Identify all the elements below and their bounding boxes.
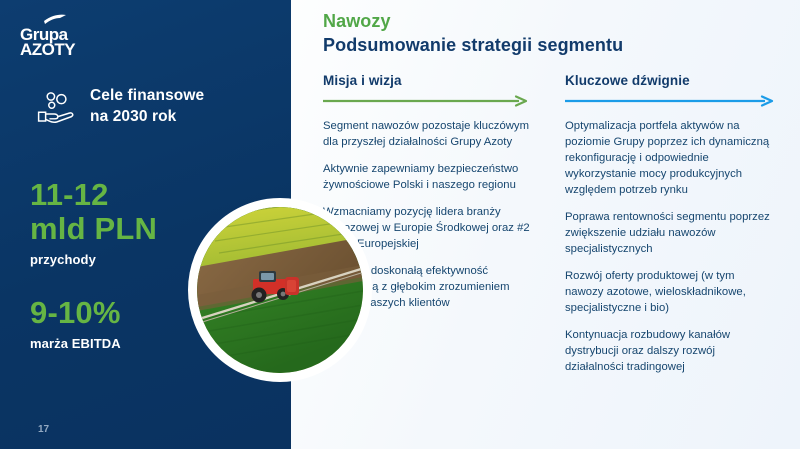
stat-revenue-unit: mld PLN (30, 212, 157, 246)
stat-ebitda-value: 9-10% (30, 296, 121, 330)
stat-ebitda-label: marża EBITDA (30, 336, 121, 351)
stat-revenue-value: 11-12 (30, 178, 157, 212)
stat-revenue-label: przychody (30, 252, 157, 267)
content-columns: Misja i wizja Segment nawozów pozostaje … (323, 73, 778, 375)
financial-goals-header: Cele finansowe na 2030 rok (36, 86, 204, 128)
column-1-heading: Misja i wizja (323, 73, 533, 88)
logo-text-line2: AZOTY (20, 40, 76, 58)
title-main: Podsumowanie strategii segmentu (323, 34, 623, 57)
goal-text-block: Cele finansowe na 2030 rok (90, 86, 204, 127)
right-content-panel: Nawozy Podsumowanie strategii segmentu M… (291, 0, 800, 449)
page-number: 17 (38, 424, 49, 435)
green-arrow (323, 95, 533, 109)
bullet-item: Aktywnie zapewniamy bezpieczeństwo żywno… (323, 161, 533, 193)
goal-line-1: Cele finansowe (90, 86, 204, 107)
bullet-item: Poprawa rentowności segmentu poprzez zwi… (565, 209, 775, 257)
title-eyebrow: Nawozy (323, 10, 623, 33)
hand-with-coins-icon (36, 86, 78, 128)
stat-ebitda: 9-10% marża EBITDA (30, 296, 121, 351)
column-2-heading: Kluczowe dźwignie (565, 73, 775, 88)
column-2-bullets: Optymalizacja portfela aktywów na poziom… (565, 118, 775, 375)
blue-arrow (565, 95, 775, 109)
bullet-item: Kontynuacja rozbudowy kanałów dystrybucj… (565, 327, 775, 375)
presentation-slide: Grupa AZOTY Cele finansowe na 2030 rok 1… (0, 0, 800, 449)
slide-title: Nawozy Podsumowanie strategii segmentu (323, 10, 623, 56)
field-photo (197, 207, 363, 373)
column-key-levers: Kluczowe dźwignie Optymalizacja portfela… (565, 73, 775, 375)
stat-revenue: 11-12 mld PLN przychody (30, 178, 157, 267)
goal-line-2: na 2030 rok (90, 107, 204, 128)
bullet-item: Optymalizacja portfela aktywów na poziom… (565, 118, 775, 198)
grupa-azoty-logo[interactable]: Grupa AZOTY (14, 12, 98, 58)
field-photo-circle (188, 198, 372, 382)
bullet-item: Segment nawozów pozostaje kluczówym dla … (323, 118, 533, 150)
swoosh-icon (44, 15, 66, 24)
bullet-item: Rozwój oferty produktowej (w tym nawozy … (565, 268, 775, 316)
